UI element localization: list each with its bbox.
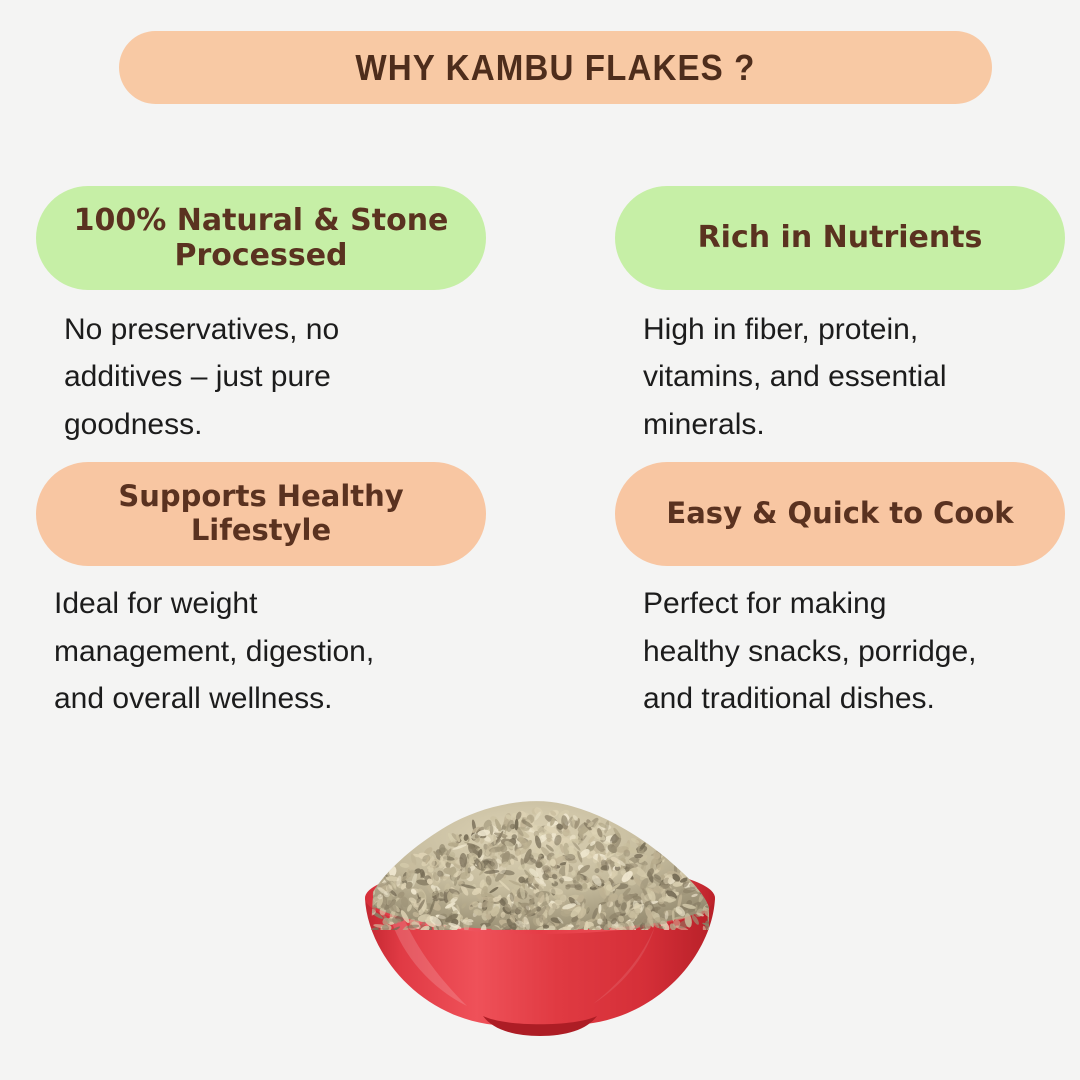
feature-card-natural-stone-processed: 100% Natural & Stone Processed No preser… — [36, 186, 486, 448]
feature-description: High in fiber, protein, vitamins, and es… — [615, 290, 1065, 448]
feature-heading-pill-supports-healthy-lifestyle: Supports Healthy Lifestyle — [36, 462, 486, 566]
feature-grid: 100% Natural & Stone Processed No preser… — [0, 186, 1080, 722]
infographic-page: WHY KAMBU FLAKES ? 100% Natural & Stone … — [0, 0, 1080, 1080]
feature-card-supports-healthy-lifestyle: Supports Healthy Lifestyle Ideal for wei… — [36, 462, 486, 722]
page-title: WHY KAMBU FLAKES ? — [355, 47, 755, 89]
feature-row-top: 100% Natural & Stone Processed No preser… — [0, 186, 1080, 448]
feature-heading-label: Easy & Quick to Cook — [666, 497, 1013, 531]
kambu-flakes-mound — [365, 801, 719, 938]
page-title-banner: WHY KAMBU FLAKES ? — [119, 31, 992, 104]
feature-description: Ideal for weight management, digestion, … — [36, 566, 486, 722]
feature-heading-pill-easy-quick-to-cook: Easy & Quick to Cook — [615, 462, 1065, 566]
feature-description: Perfect for making healthy snacks, porri… — [615, 566, 1065, 722]
feature-heading-label: 100% Natural & Stone Processed — [62, 203, 460, 273]
product-image-bowl-of-kambu-flakes — [355, 780, 725, 1045]
feature-card-rich-in-nutrients: Rich in Nutrients High in fiber, protein… — [615, 186, 1065, 448]
feature-heading-label: Rich in Nutrients — [698, 220, 983, 255]
feature-card-easy-quick-to-cook: Easy & Quick to Cook Perfect for making … — [615, 462, 1065, 722]
feature-heading-label: Supports Healthy Lifestyle — [62, 480, 460, 548]
feature-heading-pill-rich-in-nutrients: Rich in Nutrients — [615, 186, 1065, 290]
feature-description: No preservatives, no additives – just pu… — [36, 290, 486, 448]
feature-row-bottom: Supports Healthy Lifestyle Ideal for wei… — [0, 462, 1080, 722]
feature-heading-pill-natural-stone-processed: 100% Natural & Stone Processed — [36, 186, 486, 290]
